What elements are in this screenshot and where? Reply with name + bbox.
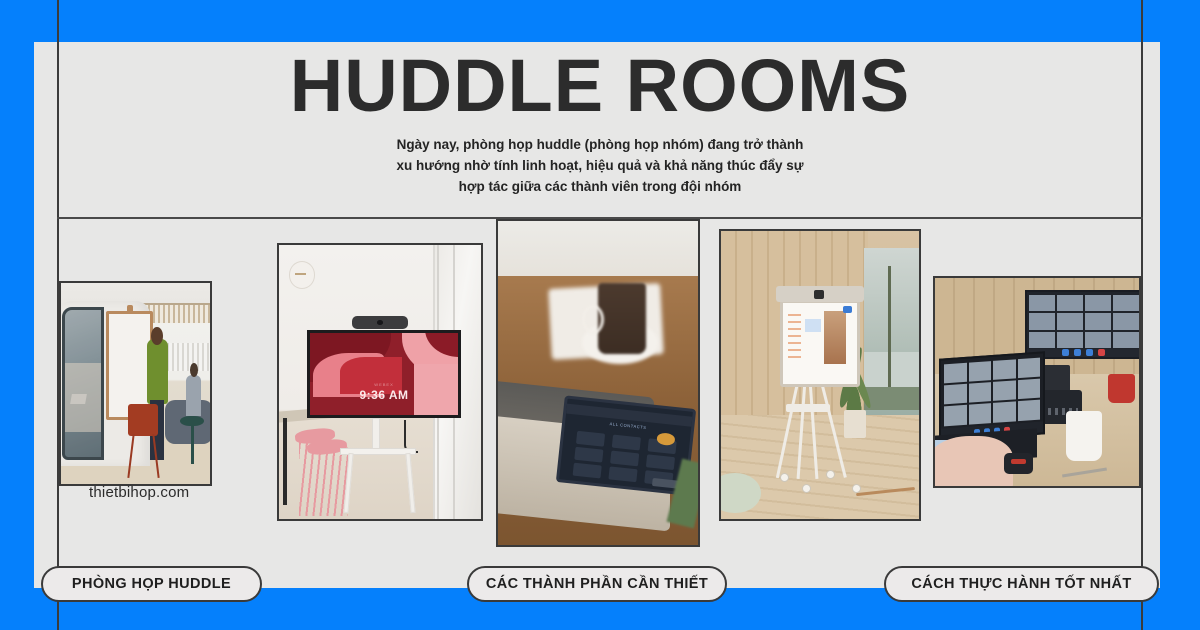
- photo-video-meeting-desk: [935, 278, 1139, 486]
- display-screen: WEBEX 9:36 AM: [307, 330, 461, 418]
- site-watermark: thietbihop.com: [89, 484, 189, 501]
- meeting-monitor: [1025, 290, 1141, 359]
- image-gallery: WEBEX 9:36 AM ALL CONTACTS: [0, 0, 1200, 630]
- screen-clock-time: 9:36 AM: [310, 388, 458, 402]
- photo-huddle-pod: [61, 283, 210, 484]
- gallery-card-video-meeting-desk[interactable]: [933, 276, 1141, 488]
- photo-digital-whiteboard: [721, 231, 919, 519]
- button-phong-hop-huddle[interactable]: PHÒNG HỌP HUDDLE: [41, 566, 262, 602]
- photo-display-stand: WEBEX 9:36 AM: [279, 245, 481, 519]
- gallery-card-display-stand[interactable]: WEBEX 9:36 AM: [277, 243, 483, 521]
- poster-canvas: HUDDLE ROOMS Ngày nay, phòng họp huddle …: [0, 0, 1200, 630]
- whiteboard-screen: [780, 300, 859, 386]
- screen-logo: WEBEX: [310, 382, 458, 387]
- coffee-cup: [598, 283, 646, 354]
- gallery-card-huddle-pod[interactable]: [59, 281, 212, 486]
- conference-camera-icon: [352, 316, 409, 328]
- gallery-card-digital-whiteboard[interactable]: [719, 229, 921, 521]
- phone-touchscreen: ALL CONTACTS: [556, 396, 696, 497]
- gallery-card-conference-phone[interactable]: ALL CONTACTS: [496, 219, 700, 547]
- wall-clock-icon: [289, 261, 315, 288]
- photo-conference-phone: ALL CONTACTS: [498, 221, 698, 545]
- whiteboard-camera-icon: [814, 290, 824, 299]
- button-cac-thanh-phan-can-thiet[interactable]: CÁC THÀNH PHẦN CẦN THIẾT: [467, 566, 727, 602]
- button-cach-thuc-hanh-tot-nhat[interactable]: CÁCH THỰC HÀNH TỐT NHẤT: [884, 566, 1159, 602]
